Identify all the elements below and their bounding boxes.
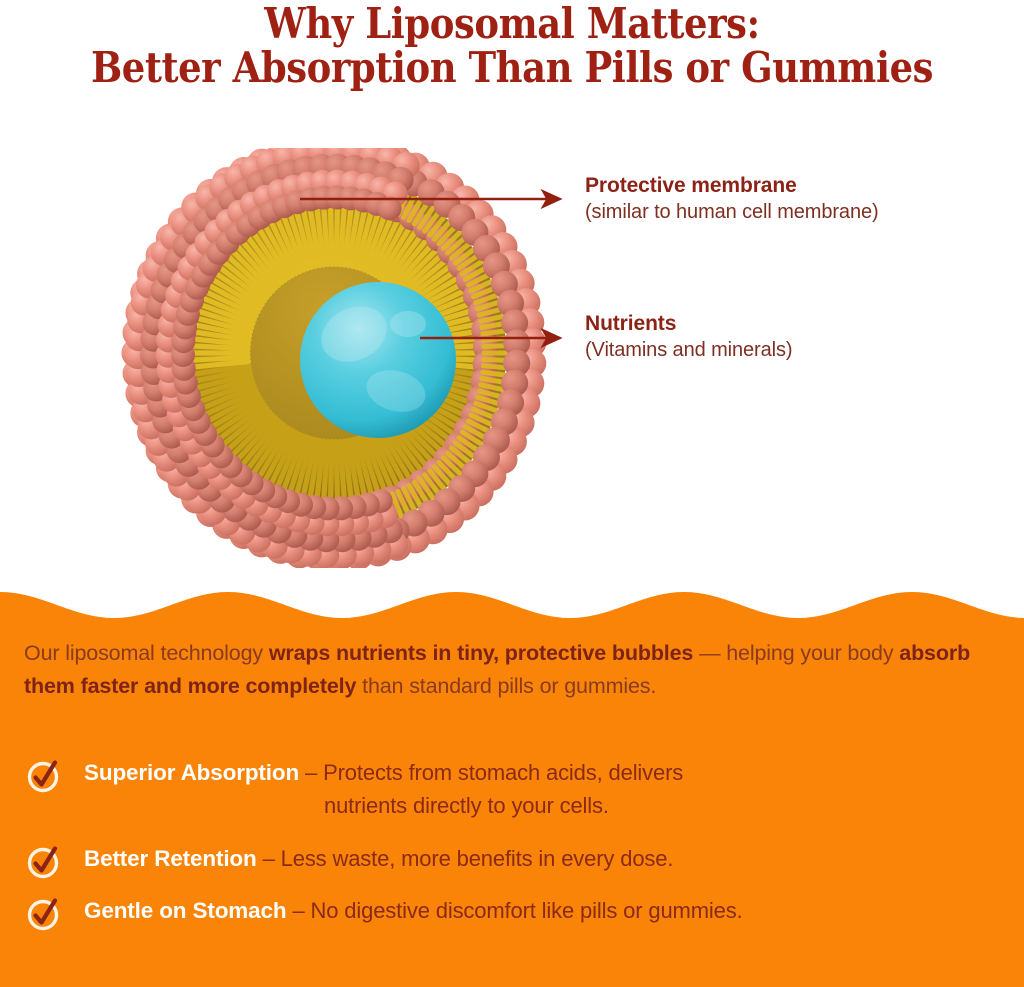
liposome-illustration — [96, 148, 596, 568]
benefit-desc-line1: No digestive discomfort like pills or gu… — [311, 898, 743, 923]
intro-part2: — helping your body — [693, 641, 899, 665]
benefit-text: Gentle on Stomach – No digestive discomf… — [84, 891, 1007, 930]
callout-membrane: Protective membrane (similar to human ce… — [585, 172, 879, 226]
title-line-1: Why Liposomal Matters: — [61, 2, 962, 46]
benefit-item-gentle-on-stomach: Gentle on Stomach – No digestive discomf… — [22, 891, 1007, 933]
benefit-text: Better Retention – Less waste, more bene… — [84, 839, 1007, 878]
benefit-desc-line1: Less waste, more benefits in every dose. — [281, 846, 674, 871]
benefit-name: Gentle on Stomach — [84, 898, 286, 923]
benefit-dash: – — [305, 760, 317, 785]
benefit-item-superior-absorption: Superior Absorption – Protects from stom… — [22, 753, 1007, 825]
benefit-item-better-retention: Better Retention – Less waste, more bene… — [22, 839, 1007, 881]
intro-paragraph: Our liposomal technology wraps nutrients… — [24, 637, 994, 703]
benefit-desc-line1: Protects from stomach acids, delivers — [323, 760, 683, 785]
title-line-2: Better Absorption Than Pills or Gummies — [61, 46, 962, 90]
intro-bold1: wraps nutrients in tiny, protective bubb… — [269, 641, 693, 665]
benefits-list: Superior Absorption – Protects from stom… — [22, 753, 1007, 943]
callout-membrane-title: Protective membrane — [585, 172, 879, 199]
benefit-text: Superior Absorption – Protects from stom… — [84, 753, 1007, 825]
benefit-name: Superior Absorption — [84, 760, 299, 785]
check-circle-icon — [24, 893, 64, 933]
check-circle-icon — [24, 755, 64, 795]
benefit-desc-line2: nutrients directly to your cells. — [84, 786, 1007, 825]
benefits-panel: Our liposomal technology wraps nutrients… — [0, 575, 1024, 987]
liposome-body — [122, 148, 547, 568]
callout-nutrients-title: Nutrients — [585, 310, 792, 337]
intro-part1: Our liposomal technology — [24, 641, 269, 665]
benefit-name: Better Retention — [84, 846, 257, 871]
check-circle-icon — [24, 841, 64, 881]
intro-part3: than standard pills or gummies. — [356, 674, 656, 698]
callout-nutrients: Nutrients (Vitamins and minerals) — [585, 310, 792, 364]
benefit-dash: – — [263, 846, 275, 871]
benefit-dash: – — [292, 898, 304, 923]
callout-nutrients-subtitle: (Vitamins and minerals) — [585, 337, 792, 364]
page-title: Why Liposomal Matters: Better Absorption… — [0, 0, 1024, 90]
callout-membrane-subtitle: (similar to human cell membrane) — [585, 199, 879, 226]
